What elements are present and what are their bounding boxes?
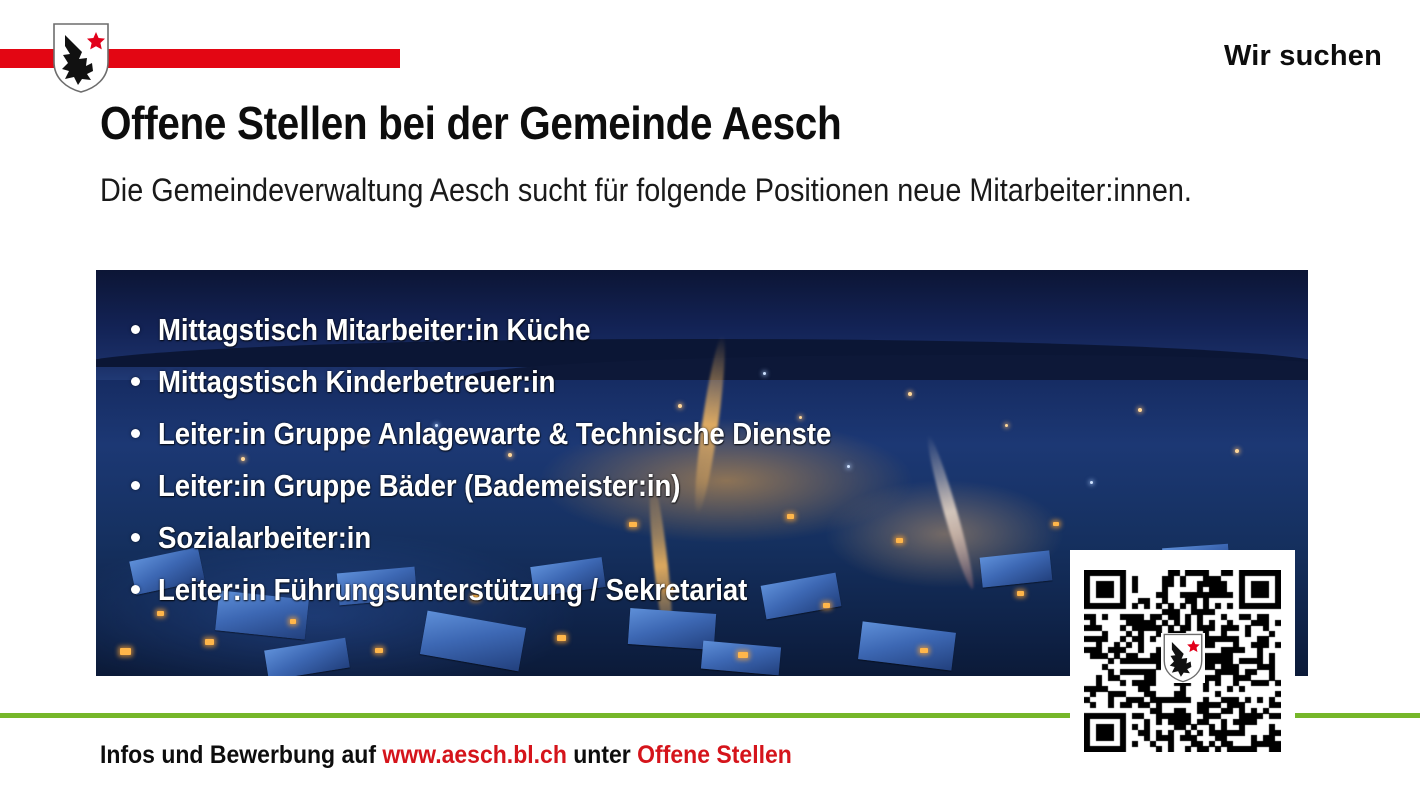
footer-text: Infos und Bewerbung auf www.aesch.bl.ch … [100, 741, 792, 770]
bullet-icon [131, 429, 140, 438]
header-title: Wir suchen [1224, 40, 1382, 73]
bullet-icon [131, 325, 140, 334]
bullet-icon [131, 377, 140, 386]
list-item-label: Sozialarbeiter:in [158, 522, 371, 553]
list-item-label: Mittagstisch Mitarbeiter:in Küche [158, 314, 590, 345]
list-item: Leiter:in Gruppe Anlagewarte & Technisch… [126, 418, 1308, 449]
list-item-label: Mittagstisch Kinderbetreuer:in [158, 366, 555, 397]
list-item: Leiter:in Gruppe Bäder (Bademeister:in) [126, 470, 1308, 501]
qr-code-offene-stellen[interactable] [1070, 550, 1295, 765]
header-band: Wir suchen [0, 0, 1420, 96]
list-item: Mittagstisch Mitarbeiter:in Küche [126, 314, 1308, 345]
footer-offene-stellen-link[interactable]: Offene Stellen [637, 741, 792, 769]
list-item-label: Leiter:in Gruppe Anlagewarte & Technisch… [158, 418, 831, 449]
bullet-icon [131, 481, 140, 490]
list-item-label: Leiter:in Gruppe Bäder (Bademeister:in) [158, 470, 680, 501]
footer-lead: Infos und Bewerbung auf [100, 741, 382, 769]
page-subtitle: Die Gemeindeverwaltung Aesch sucht für f… [100, 168, 1207, 213]
list-item: Mittagstisch Kinderbetreuer:in [126, 366, 1308, 397]
list-item: Sozialarbeiter:in [126, 522, 1308, 553]
list-item-label: Leiter:in Führungsunterstützung / Sekret… [158, 574, 747, 605]
page-title: Offene Stellen bei der Gemeinde Aesch [100, 98, 841, 149]
footer-url-link[interactable]: www.aesch.bl.ch [382, 741, 566, 769]
bullet-icon [131, 585, 140, 594]
aesch-coat-of-arms-icon [1161, 633, 1205, 683]
aesch-coat-of-arms-icon [52, 22, 110, 94]
bullet-icon [131, 533, 140, 542]
footer-middle: unter [567, 741, 637, 769]
